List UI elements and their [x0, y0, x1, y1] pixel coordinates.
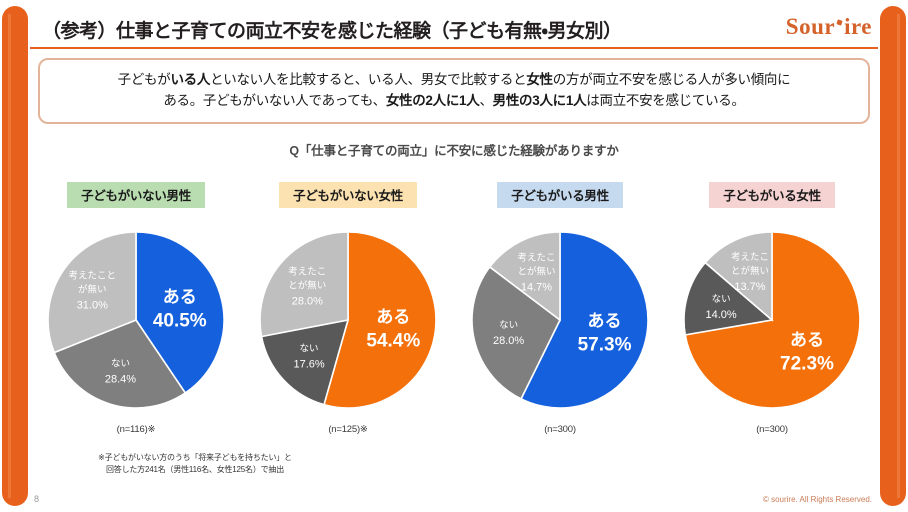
footnote-line-2: 回答した方241名（男性116名、女性125名）で抽出: [70, 464, 320, 476]
logo-part-ire: ire: [844, 14, 872, 39]
slice-label-nai: ない: [499, 320, 518, 331]
slice-value-aru: 54.4%: [366, 330, 420, 351]
slice-label-kangaeta-2: が無い: [78, 283, 107, 295]
chart-title-chip-2: 子どもがいない女性: [279, 182, 417, 208]
slice-label-aru: ある: [588, 311, 622, 330]
logo-part-sour: Sour: [786, 14, 835, 39]
footnote: ※子どもがいない方のうち「将来子どもを持ちたい」と 回答した方241名（男性11…: [70, 452, 320, 476]
footnote-line-1: ※子どもがいない方のうち「将来子どもを持ちたい」と: [70, 452, 320, 464]
slice-label-kangaeta-2: とが無い: [731, 265, 769, 277]
slice-value-nai: 14.0%: [706, 309, 737, 321]
slice-label-nai: ない: [300, 344, 319, 355]
summary-line-1: 子どもがいる人といない人を比較すると、いる人、男女で比較すると女性の方が両立不安…: [118, 70, 791, 91]
right-accent-rail: [880, 6, 906, 506]
slide-body: （参考）仕事と子育ての両立不安を感じた経験（子ども有無・男女別） Sourire…: [30, 0, 878, 512]
slice-value-nai: 28.4%: [105, 373, 136, 385]
slice-label-kangaeta-1: 考えたこ: [288, 266, 326, 277]
logo-accent-dot: [836, 19, 842, 25]
sample-size-label-3: (n=300): [544, 424, 576, 435]
sample-size-label-4: (n=300): [756, 424, 788, 435]
chart-column-2: 子どもがいない女性ある54.4%ない17.6%考えたことが無い28.0%(n=1…: [242, 172, 454, 454]
summary-callout: 子どもがいる人といない人を比較すると、いる人、男女で比較すると女性の方が両立不安…: [38, 58, 870, 124]
sample-size-label-1: (n=116)※: [117, 424, 156, 435]
slice-value-nai: 17.6%: [293, 359, 324, 371]
page-number: 8: [34, 494, 39, 504]
summary-line-2: ある。子どもがいない人であっても、女性の2人に1人、男性の3人に1人は両立不安を…: [163, 91, 744, 112]
copyright-notice: © sourire. All Rights Reserved.: [763, 495, 872, 504]
pie-chart-4: ある72.3%ない14.0%考えたことが無い13.7%: [672, 220, 872, 420]
pie-chart-2: ある54.4%ない17.6%考えたことが無い28.0%: [248, 220, 448, 420]
slice-value-nai: 28.0%: [493, 335, 524, 347]
pie-chart-1: ある40.5%ない28.4%考えたことが無い31.0%: [36, 220, 236, 420]
title-divider: [30, 47, 878, 49]
slice-value-aru: 40.5%: [153, 311, 207, 332]
slice-label-kangaeta-1: 考えたこと: [69, 270, 117, 281]
sourire-logo: Sourire: [786, 14, 872, 40]
slice-label-kangaeta-2: とが無い: [288, 279, 326, 291]
page-title: （参考）仕事と子育ての両立不安を感じた経験（子ども有無・男女別）: [42, 16, 621, 43]
left-rail-highlight: [8, 14, 11, 498]
slice-value-kangaeta: 31.0%: [77, 299, 108, 311]
slice-label-nai: ない: [712, 294, 731, 305]
slice-label-nai: ない: [111, 358, 130, 369]
title-bar: （参考）仕事と子育ての両立不安を感じた経験（子ども有無・男女別） Sourire: [30, 8, 878, 52]
slice-label-kangaeta-2: とが無い: [517, 266, 555, 278]
pie-chart-3: ある57.3%ない28.0%考えたことが無い14.7%: [460, 220, 660, 420]
chart-column-4: 子どもがいる女性ある72.3%ない14.0%考えたことが無い13.7%(n=30…: [666, 172, 878, 454]
slice-value-kangaeta: 14.7%: [521, 282, 552, 294]
left-accent-rail: [2, 6, 28, 506]
right-rail-highlight: [897, 14, 900, 498]
slice-value-kangaeta: 13.7%: [734, 281, 765, 293]
chart-title-chip-3: 子どもがいる男性: [497, 182, 623, 208]
slice-label-kangaeta-1: 考えたこ: [517, 253, 555, 264]
pie-chart-row: 子どもがいない男性ある40.5%ない28.4%考えたことが無い31.0%(n=1…: [30, 172, 878, 454]
chart-column-1: 子どもがいない男性ある40.5%ない28.4%考えたことが無い31.0%(n=1…: [30, 172, 242, 454]
question-label: Q「仕事と子育ての両立」に不安に感じた経験がありますか: [30, 140, 878, 159]
slice-label-aru: ある: [163, 288, 197, 307]
chart-column-3: 子どもがいる男性ある57.3%ない28.0%考えたことが無い14.7%(n=30…: [454, 172, 666, 454]
slice-value-aru: 57.3%: [578, 334, 632, 355]
slice-label-aru: ある: [376, 307, 410, 326]
chart-title-chip-1: 子どもがいない男性: [67, 182, 205, 208]
sample-size-label-2: (n=125)※: [328, 424, 367, 435]
chart-title-chip-4: 子どもがいる女性: [709, 182, 835, 208]
slice-value-aru: 72.3%: [780, 353, 834, 374]
slice-value-kangaeta: 28.0%: [292, 295, 323, 307]
slice-label-aru: ある: [790, 330, 824, 349]
slice-label-kangaeta-1: 考えたこ: [731, 252, 769, 263]
